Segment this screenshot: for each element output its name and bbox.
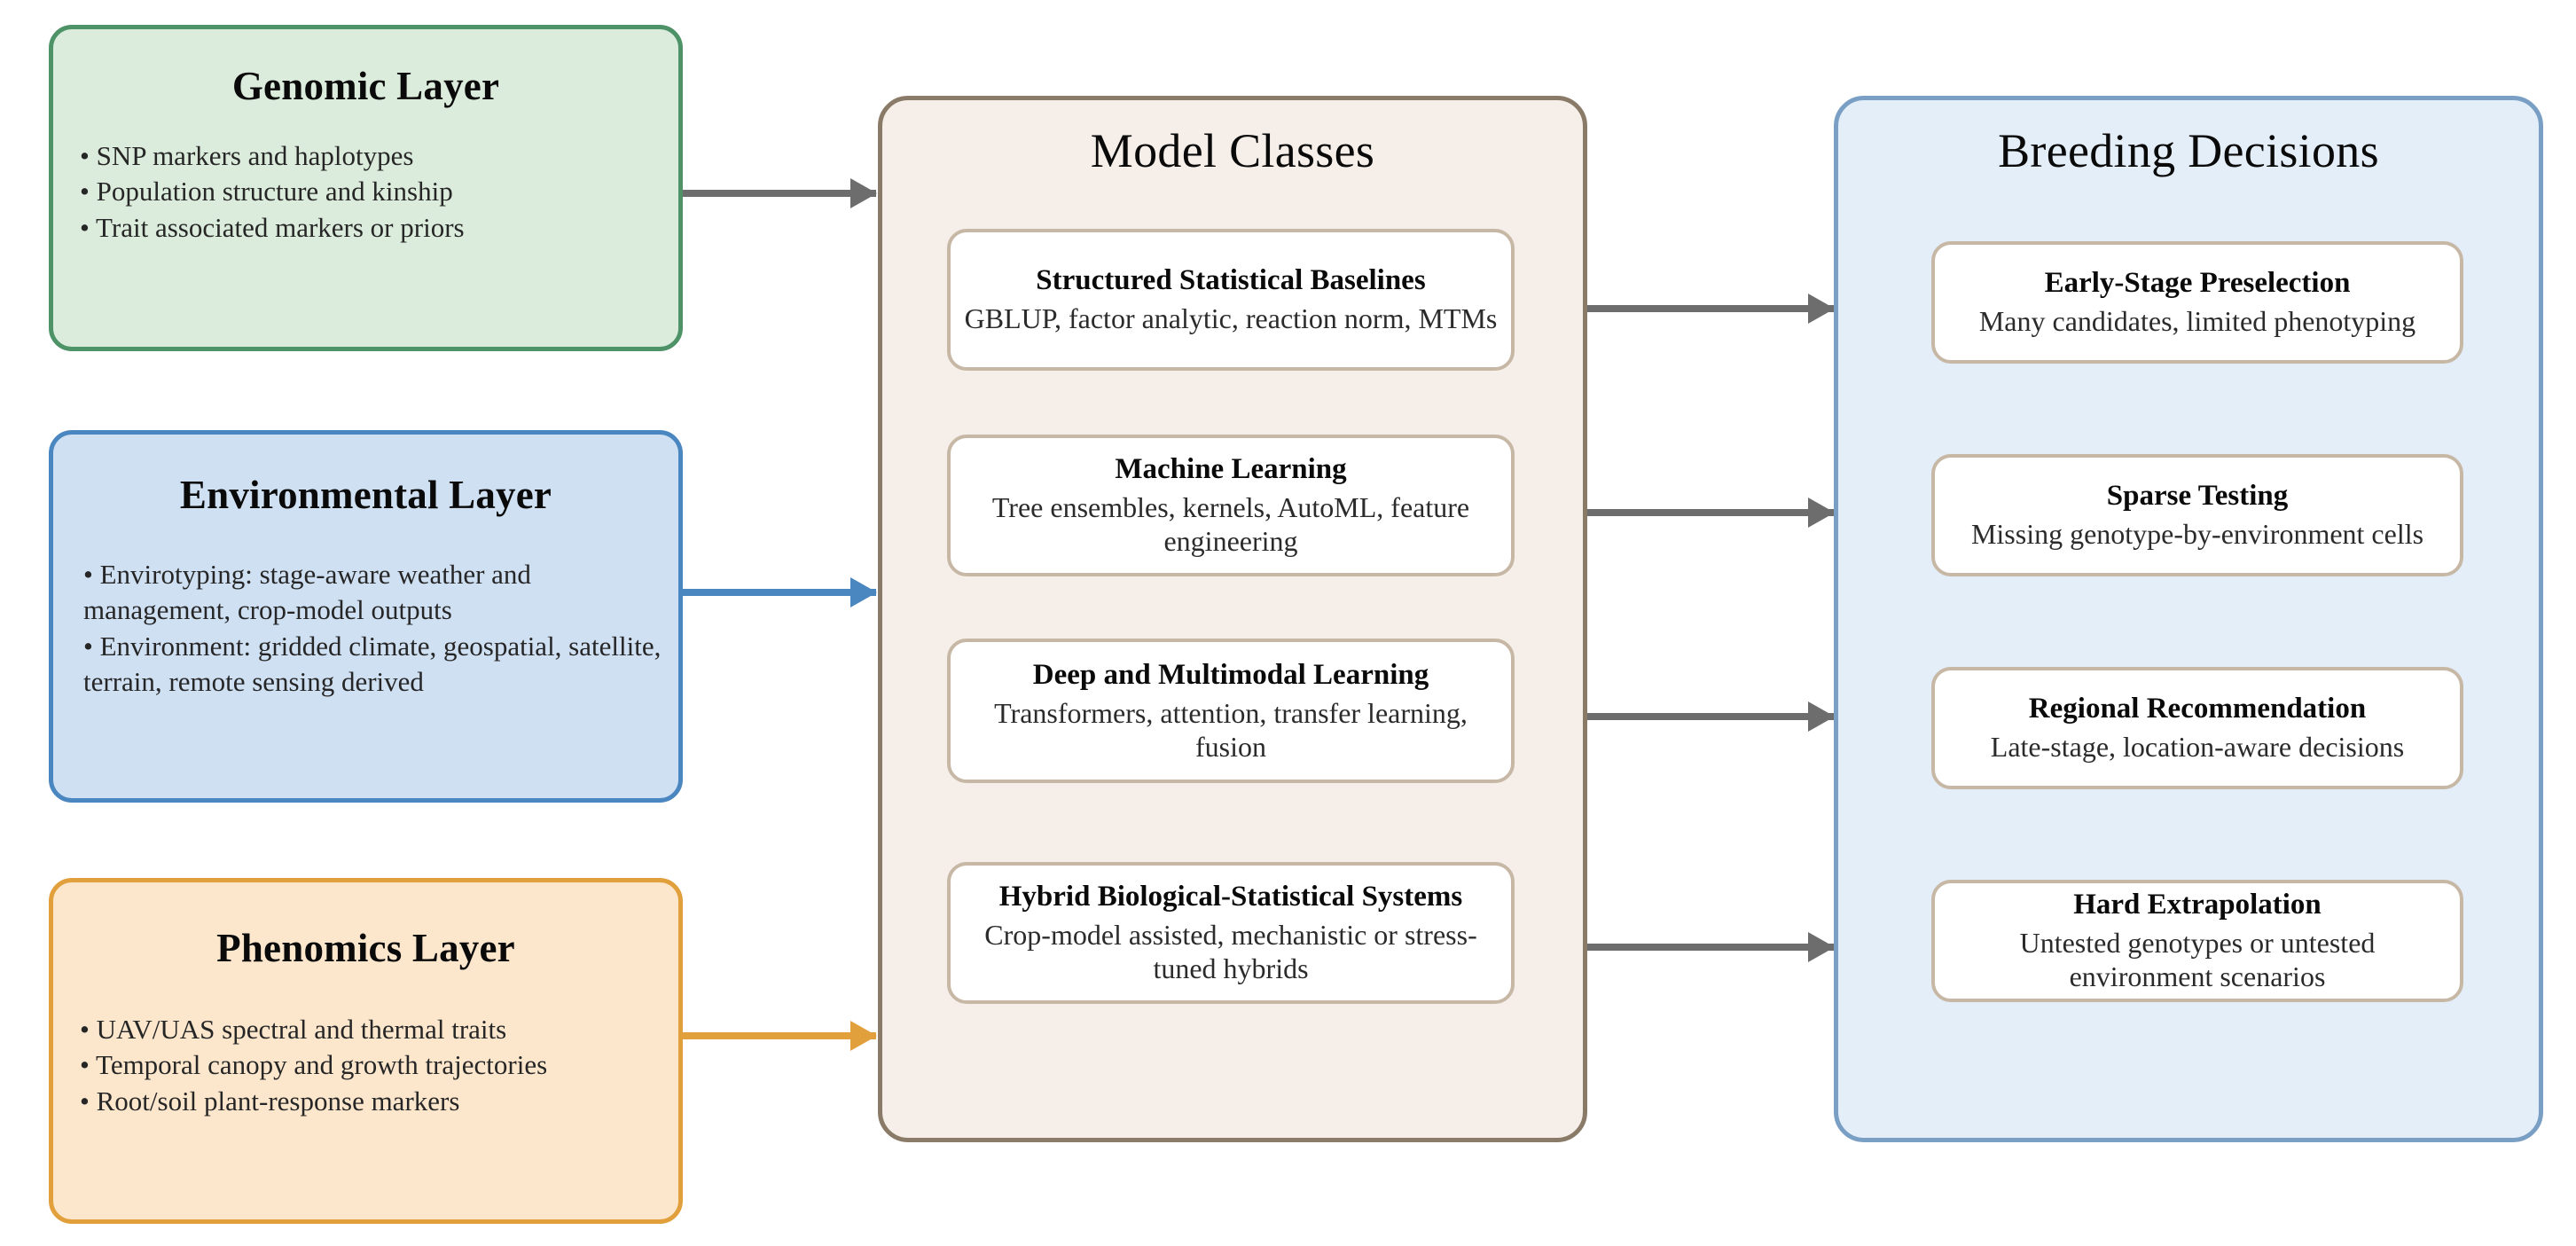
list-item: • Root/soil plant-response markers [80, 1084, 678, 1119]
breeding-decision-card-hard-extrapolation[interactable]: Hard Extrapolation Untested genotypes or… [1931, 880, 2463, 1002]
list-item: • UAV/UAS spectral and thermal traits [80, 1012, 678, 1047]
list-item: • Trait associated markers or priors [80, 210, 678, 246]
arrow-head-icon [1808, 498, 1835, 528]
phenomics-layer-bullets: • UAV/UAS spectral and thermal traits • … [53, 1012, 678, 1119]
arrow-head-icon [1808, 294, 1835, 324]
genomic-layer-card: Genomic Layer • SNP markers and haplotyp… [49, 25, 683, 351]
arrow-shaft [683, 190, 876, 197]
arrow-shaft [683, 1032, 876, 1039]
card-title: Early-Stage Preselection [2045, 266, 2351, 301]
card-title: Deep and Multimodal Learning [1033, 658, 1429, 693]
arrow-head-icon [1808, 701, 1835, 732]
arrow-shaft [1587, 509, 1834, 516]
genomic-layer-bullets: • SNP markers and haplotypes • Populatio… [53, 138, 678, 246]
arrow-head-icon [850, 178, 877, 208]
card-subtitle: Tree ensembles, kernels, AutoML, feature… [951, 490, 1511, 559]
card-title: Hard Extrapolation [2073, 888, 2322, 922]
list-item: • Environment: gridded climate, geospati… [83, 629, 678, 701]
arrow-shaft [683, 589, 876, 596]
model-class-card-deep-and-multimodal-learning[interactable]: Deep and Multimodal Learning Transformer… [947, 639, 1515, 783]
arrow-head-icon [850, 1021, 877, 1051]
card-subtitle: Missing genotype-by-environment cells [1959, 517, 2436, 551]
genomic-layer-title: Genomic Layer [53, 63, 678, 109]
card-subtitle: Many candidates, limited phenotyping [1967, 304, 2428, 338]
model-classes-title: Model Classes [882, 123, 1583, 178]
card-title: Regional Recommendation [2029, 692, 2366, 726]
model-class-card-structured-statistical-baselines[interactable]: Structured Statistical Baselines GBLUP, … [947, 229, 1515, 371]
environmental-layer-card: Environmental Layer • Envirotyping: stag… [49, 430, 683, 803]
card-subtitle: Untested genotypes or untested environme… [1935, 926, 2460, 994]
arrow-head-icon [850, 577, 877, 607]
breeding-decision-card-regional-recommendation[interactable]: Regional Recommendation Late-stage, loca… [1931, 667, 2463, 789]
model-class-card-hybrid-biological-statistical-systems[interactable]: Hybrid Biological-Statistical Systems Cr… [947, 862, 1515, 1004]
environmental-layer-bullets: • Envirotyping: stage-aware weather and … [53, 557, 678, 700]
model-class-card-machine-learning[interactable]: Machine Learning Tree ensembles, kernels… [947, 435, 1515, 576]
arrow-head-icon [1808, 932, 1835, 962]
breeding-decision-card-sparse-testing[interactable]: Sparse Testing Missing genotype-by-envir… [1931, 454, 2463, 576]
arrow-shaft [1587, 305, 1834, 312]
diagram-canvas: Genomic Layer • SNP markers and haplotyp… [0, 0, 2576, 1246]
environmental-layer-title: Environmental Layer [53, 472, 678, 518]
list-item: • Temporal canopy and growth trajectorie… [80, 1047, 678, 1083]
phenomics-layer-title: Phenomics Layer [53, 925, 678, 971]
phenomics-layer-card: Phenomics Layer • UAV/UAS spectral and t… [49, 878, 683, 1224]
breeding-decision-card-early-stage-preselection[interactable]: Early-Stage Preselection Many candidates… [1931, 241, 2463, 364]
breeding-decisions-title: Breeding Decisions [1838, 123, 2539, 178]
card-title: Machine Learning [1115, 452, 1346, 487]
card-subtitle: Late-stage, location-aware decisions [1978, 730, 2416, 764]
list-item: • SNP markers and haplotypes [80, 138, 678, 174]
arrow-shaft [1587, 944, 1834, 951]
list-item: • Envirotyping: stage-aware weather and … [83, 557, 678, 629]
arrow-shaft [1587, 713, 1834, 720]
card-subtitle: Transformers, attention, transfer learni… [951, 696, 1511, 764]
card-title: Hybrid Biological-Statistical Systems [999, 880, 1463, 914]
list-item: • Population structure and kinship [80, 174, 678, 209]
card-subtitle: Crop-model assisted, mechanistic or stre… [951, 918, 1511, 986]
card-title: Sparse Testing [2107, 479, 2288, 513]
card-title: Structured Statistical Baselines [1036, 263, 1425, 298]
card-subtitle: GBLUP, factor analytic, reaction norm, M… [952, 302, 1510, 335]
